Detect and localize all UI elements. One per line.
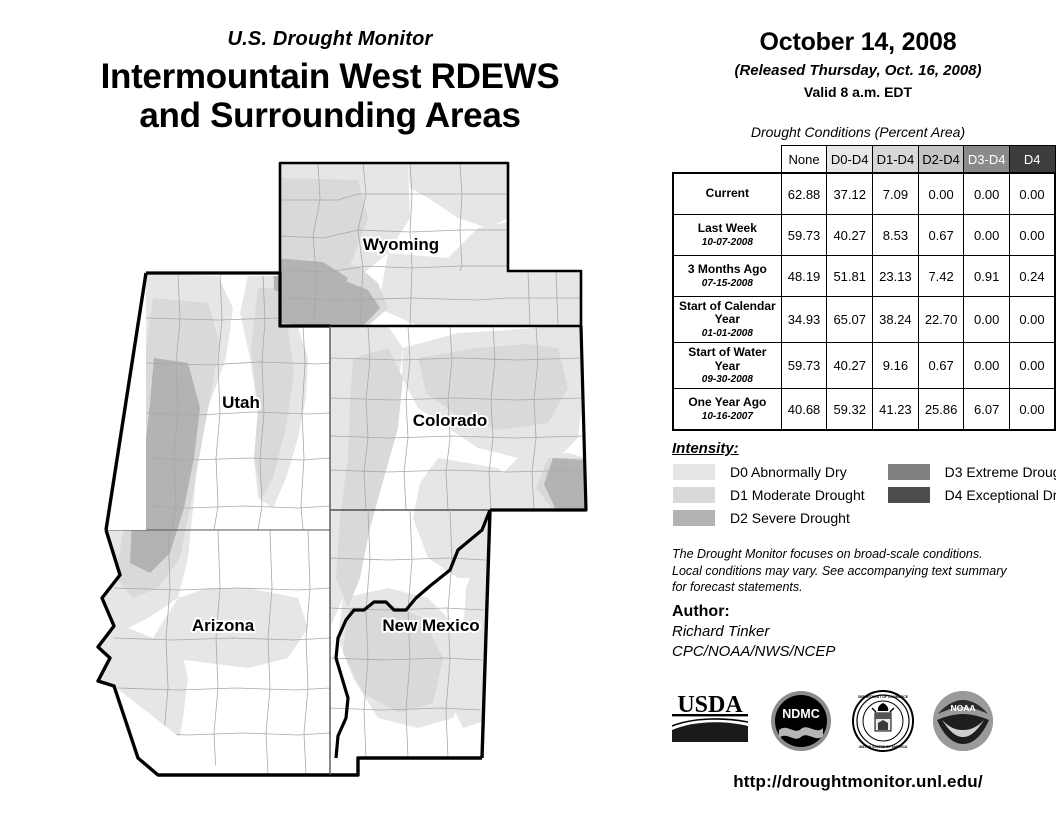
author-heading: Author:	[672, 602, 1032, 622]
row-label: Start of Calendar Year01-01-2008	[673, 297, 781, 343]
table-cell: 40.68	[781, 389, 827, 431]
table-cell: 0.00	[964, 343, 1010, 389]
table-cell: 59.73	[781, 215, 827, 256]
table-body: Current62.8837.127.090.000.000.00Last We…	[673, 173, 1055, 430]
row-label: 3 Months Ago07-15-2008	[673, 256, 781, 297]
table-cell: 41.23	[873, 389, 919, 431]
legend-item-d4: D4 Exceptional Drought	[887, 486, 1056, 503]
table-cell: 0.91	[964, 256, 1010, 297]
row-label-name: Current	[676, 187, 779, 200]
table-cell: 7.09	[873, 173, 919, 215]
column-header-d2-d4: D2-D4	[918, 146, 964, 174]
program-title: U.S. Drought Monitor	[0, 28, 660, 51]
info-panel: October 14, 2008 (Released Thursday, Oct…	[660, 0, 1056, 816]
row-label-date: 07-15-2008	[676, 278, 779, 289]
table-cell: 7.42	[918, 256, 964, 297]
legend-item-d1: D1 Moderate Drought	[672, 486, 865, 503]
column-header-d3-d4: D3-D4	[964, 146, 1010, 174]
row-label-name: Last Week	[676, 222, 779, 235]
map-panel: U.S. Drought Monitor Intermountain West …	[0, 0, 660, 816]
table-cell: 51.81	[827, 256, 873, 297]
table-cell: 40.27	[827, 215, 873, 256]
table-cell: 37.12	[827, 173, 873, 215]
table-corner-cell	[673, 146, 781, 174]
svg-text:UNITED STATES OF AMERICA: UNITED STATES OF AMERICA	[859, 745, 908, 749]
valid-time: Valid 8 a.m. EDT	[660, 84, 1056, 100]
table-cell: 0.00	[1009, 343, 1055, 389]
title-block: U.S. Drought Monitor Intermountain West …	[0, 28, 660, 135]
table-cell: 59.73	[781, 343, 827, 389]
website-url: http://droughtmonitor.unl.edu/	[660, 772, 1056, 792]
legend-label-d2: D2 Severe Drought	[730, 510, 850, 526]
table-cell: 23.13	[873, 256, 919, 297]
legend-label-d0: D0 Abnormally Dry	[730, 464, 847, 480]
author-block: Author: Richard Tinker CPC/NOAA/NWS/NCEP	[672, 602, 1032, 661]
state-label-new-mexico: New Mexico	[382, 616, 479, 635]
column-header-none: None	[781, 146, 827, 174]
disclaimer: The Drought Monitor focuses on broad-sca…	[672, 546, 1032, 596]
table-cell: 0.00	[1009, 389, 1055, 431]
table-cell: 0.00	[964, 215, 1010, 256]
table-cell: 0.24	[1009, 256, 1055, 297]
column-header-d0-d4: D0-D4	[827, 146, 873, 174]
table-row: Current62.8837.127.090.000.000.00	[673, 173, 1055, 215]
legend: Intensity: D0 Abnormally Dry D1 Moderate…	[672, 440, 1052, 526]
row-label: Last Week10-07-2008	[673, 215, 781, 256]
legend-column-left: D0 Abnormally Dry D1 Moderate Drought D2…	[672, 463, 865, 526]
state-label-wyoming: Wyoming	[363, 235, 439, 254]
state-label-arizona: Arizona	[192, 616, 255, 635]
legend-label-d3: D3 Extreme Drought	[945, 464, 1056, 480]
swatch-d2-icon	[672, 509, 716, 527]
row-label-name: 3 Months Ago	[676, 263, 779, 276]
drought-conditions-table: None D0-D4 D1-D4 D2-D4 D3-D4 D4 Current6…	[672, 145, 1056, 431]
legend-item-d2: D2 Severe Drought	[672, 509, 865, 526]
table-caption: Drought Conditions (Percent Area)	[660, 124, 1056, 140]
disclaimer-line-3: for forecast statements.	[672, 579, 1032, 596]
table-cell: 40.27	[827, 343, 873, 389]
row-label-date: 01-01-2008	[676, 328, 779, 339]
legend-item-d3: D3 Extreme Drought	[887, 463, 1056, 480]
table-row: Start of Water Year09-30-200859.7340.279…	[673, 343, 1055, 389]
row-label: Start of Water Year09-30-2008	[673, 343, 781, 389]
table-cell: 38.24	[873, 297, 919, 343]
table-cell: 0.00	[918, 173, 964, 215]
usda-logo-icon: USDA	[668, 690, 752, 752]
table-row: Start of Calendar Year01-01-200834.9365.…	[673, 297, 1055, 343]
logo-row: USDA NDMC DEPARTMENT OF COM	[660, 690, 1056, 758]
map-svg: Wyoming Utah Colorado Arizona New Mexico	[58, 158, 658, 783]
row-label-name: Start of Calendar Year	[676, 300, 779, 327]
column-header-d1-d4: D1-D4	[873, 146, 919, 174]
table-cell: 59.32	[827, 389, 873, 431]
drought-map: Wyoming Utah Colorado Arizona New Mexico	[58, 158, 658, 783]
table-cell: 22.70	[918, 297, 964, 343]
table-row: Last Week10-07-200859.7340.278.530.670.0…	[673, 215, 1055, 256]
noaa-logo-icon: NOAA	[932, 690, 994, 752]
column-header-d4: D4	[1009, 146, 1055, 174]
legend-heading: Intensity:	[672, 440, 1052, 457]
table-cell: 0.00	[1009, 215, 1055, 256]
row-label-date: 09-30-2008	[676, 374, 779, 385]
svg-text:NDMC: NDMC	[782, 707, 820, 721]
table-cell: 8.53	[873, 215, 919, 256]
table-row: One Year Ago10-16-200740.6859.3241.2325.…	[673, 389, 1055, 431]
row-label: One Year Ago10-16-2007	[673, 389, 781, 431]
table-cell: 9.16	[873, 343, 919, 389]
swatch-d1-icon	[672, 486, 716, 504]
table-cell: 48.19	[781, 256, 827, 297]
row-label-name: Start of Water Year	[676, 346, 779, 373]
legend-label-d1: D1 Moderate Drought	[730, 487, 865, 503]
ndmc-logo-icon: NDMC	[770, 690, 832, 752]
state-label-colorado: Colorado	[413, 411, 488, 430]
table-cell: 25.86	[918, 389, 964, 431]
issue-date: October 14, 2008	[660, 28, 1056, 57]
swatch-d3-icon	[887, 463, 931, 481]
row-label-date: 10-07-2008	[676, 237, 779, 248]
table-row: 3 Months Ago07-15-200848.1951.8123.137.4…	[673, 256, 1055, 297]
legend-label-d4: D4 Exceptional Drought	[945, 487, 1056, 503]
table-cell: 0.67	[918, 343, 964, 389]
table-cell: 6.07	[964, 389, 1010, 431]
state-label-utah: Utah	[222, 393, 260, 412]
page-title-line2: and Surrounding Areas	[0, 96, 660, 135]
table-cell: 0.00	[964, 297, 1010, 343]
swatch-d4-icon	[887, 486, 931, 504]
dept-commerce-seal-icon: DEPARTMENT OF COMMERCE UNITED STATES OF …	[852, 690, 914, 752]
row-label: Current	[673, 173, 781, 215]
svg-text:NOAA: NOAA	[950, 703, 975, 713]
table-cell: 0.00	[964, 173, 1010, 215]
svg-text:DEPARTMENT OF COMMERCE: DEPARTMENT OF COMMERCE	[858, 695, 909, 699]
disclaimer-line-1: The Drought Monitor focuses on broad-sca…	[672, 546, 1032, 563]
disclaimer-line-2: Local conditions may vary. See accompany…	[672, 563, 1032, 580]
table-cell: 0.67	[918, 215, 964, 256]
release-date: (Released Thursday, Oct. 16, 2008)	[660, 62, 1056, 79]
row-label-name: One Year Ago	[676, 396, 779, 409]
row-label-date: 10-16-2007	[676, 411, 779, 422]
author-affiliation: CPC/NOAA/NWS/NCEP	[672, 642, 1032, 661]
author-name: Richard Tinker	[672, 622, 1032, 641]
table-header-row: None D0-D4 D1-D4 D2-D4 D3-D4 D4	[673, 146, 1055, 174]
swatch-d0-icon	[672, 463, 716, 481]
legend-item-d0: D0 Abnormally Dry	[672, 463, 865, 480]
date-block: October 14, 2008 (Released Thursday, Oct…	[660, 28, 1056, 100]
table-cell: 62.88	[781, 173, 827, 215]
table-cell: 0.00	[1009, 297, 1055, 343]
table-cell: 65.07	[827, 297, 873, 343]
page-title-line1: Intermountain West RDEWS	[0, 57, 660, 96]
legend-column-right: D3 Extreme Drought D4 Exceptional Drough…	[887, 463, 1056, 526]
table-cell: 34.93	[781, 297, 827, 343]
table-cell: 0.00	[1009, 173, 1055, 215]
